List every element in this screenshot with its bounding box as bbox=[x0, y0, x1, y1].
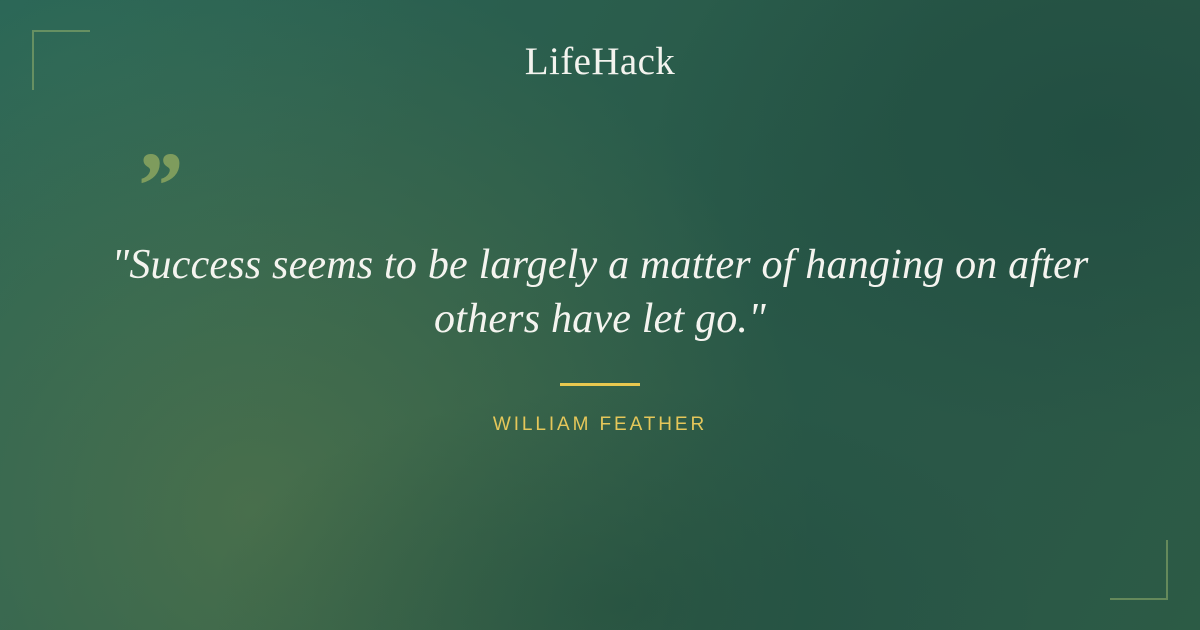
quote-text: "Success seems to be largely a matter of… bbox=[100, 238, 1100, 346]
quote-author: WILLIAM FEATHER bbox=[0, 412, 1200, 438]
quote-card: LifeHack ” "Success seems to be largely … bbox=[0, 0, 1200, 630]
divider bbox=[560, 383, 640, 386]
brand-logo: LifeHack bbox=[0, 38, 1200, 86]
quotation-mark-icon: ” bbox=[133, 138, 181, 234]
corner-bracket-bottom-right-icon bbox=[1110, 540, 1168, 600]
